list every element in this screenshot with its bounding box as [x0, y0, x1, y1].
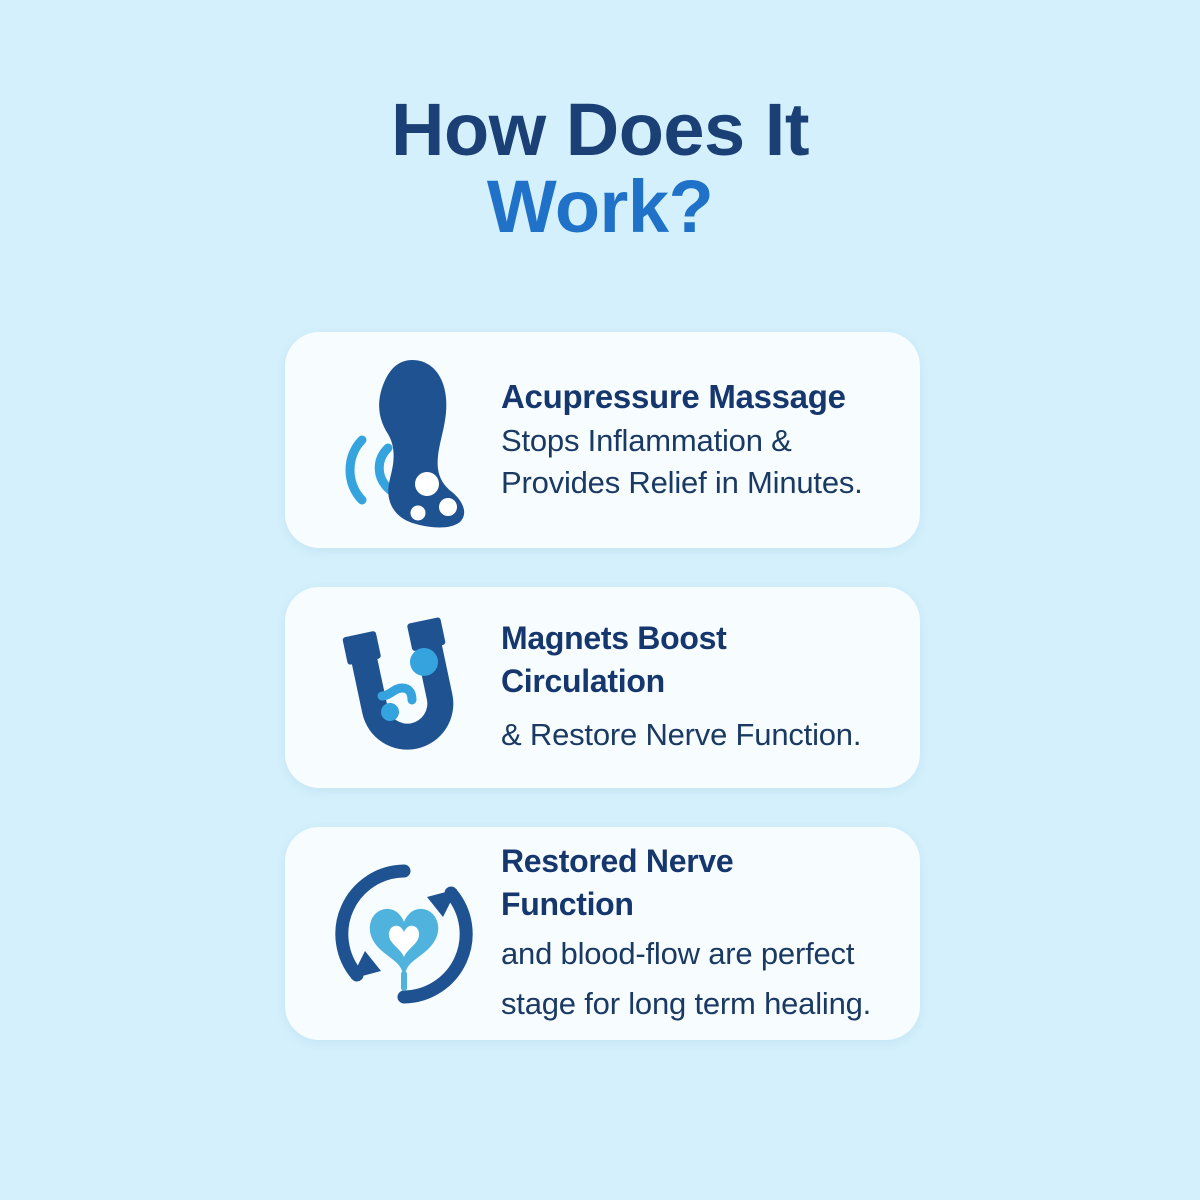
benefit-card-title-line-2: Circulation: [501, 661, 894, 702]
benefit-card-magnets[interactable]: Magnets Boost Circulation & Restore Nerv…: [285, 587, 920, 788]
benefit-card-body-line-1: & Restore Nerve Function.: [501, 714, 894, 756]
benefit-card-title-line-1: Restored Nerve: [501, 841, 894, 882]
benefit-card-title-line-1: Magnets Boost: [501, 618, 894, 659]
benefit-card-body-line-1: Stops Inflammation &: [501, 420, 894, 462]
benefit-card-restored-nerve[interactable]: Restored Nerve Function and blood-flow a…: [285, 827, 920, 1040]
magnet-icon: [309, 587, 499, 788]
foot-acupressure-icon: [309, 332, 499, 548]
benefit-card-text: Acupressure Massage Stops Inflammation &…: [499, 376, 894, 505]
heart-cycle-icon: [309, 827, 499, 1040]
benefit-card-text: Magnets Boost Circulation & Restore Nerv…: [499, 618, 894, 756]
infographic-page: How Does It Work? Acupressure: [0, 0, 1200, 1200]
benefit-card-text: Restored Nerve Function and blood-flow a…: [499, 841, 894, 1025]
page-title-line-2: Work?: [0, 169, 1200, 246]
benefit-card-title: Acupressure Massage: [501, 376, 894, 418]
benefit-card-body-line-2: Provides Relief in Minutes.: [501, 462, 894, 504]
benefit-card-body-line-1: and blood-flow are perfect: [501, 933, 894, 975]
page-title: How Does It Work?: [0, 92, 1200, 246]
benefit-card-list: Acupressure Massage Stops Inflammation &…: [285, 332, 920, 1040]
page-title-line-1: How Does It: [0, 92, 1200, 169]
benefit-card-body-line-2: stage for long term healing.: [501, 983, 894, 1025]
benefit-card-title-line-2: Function: [501, 884, 894, 925]
benefit-card-acupressure[interactable]: Acupressure Massage Stops Inflammation &…: [285, 332, 920, 548]
